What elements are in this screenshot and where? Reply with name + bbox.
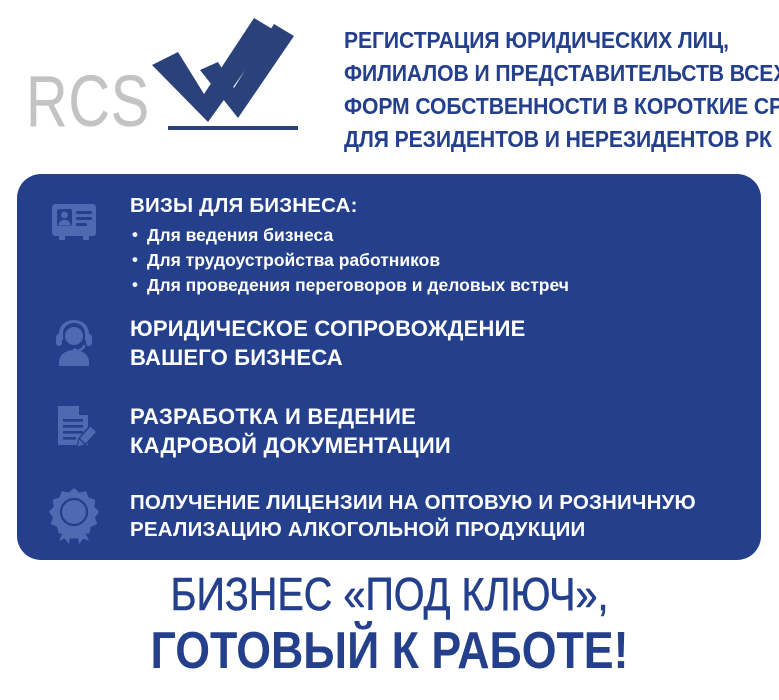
list-item: Для ведения бизнеса — [130, 223, 751, 248]
section-title-hr-line1: РАЗРАБОТКА И ВЕДЕНИЕ — [130, 402, 751, 431]
visa-bullet-list: Для ведения бизнеса Для трудоустройства … — [130, 223, 751, 298]
logo-underline — [168, 126, 298, 130]
tagline-line-2: ГОТОВЫЙ К РАБОТЕ! — [55, 621, 725, 681]
services-panel: ВИЗЫ ДЛЯ БИЗНЕСА: Для ведения бизнеса Дл… — [17, 174, 761, 560]
list-item: Для трудоустройства работников — [130, 248, 751, 273]
list-item: Для проведения переговоров и деловых вст… — [130, 273, 751, 298]
section-title-license-line2: РЕАЛИЗАЦИЮ АЛКОГОЛЬНОЙ ПРОДУКЦИИ — [130, 516, 751, 543]
headline: РЕГИСТРАЦИЯ ЮРИДИЧЕСКИХ ЛИЦ, ФИЛИАЛОВ И … — [344, 24, 774, 156]
headline-line-1: РЕГИСТРАЦИЯ ЮРИДИЧЕСКИХ ЛИЦ, — [344, 24, 731, 57]
headset-support-icon — [48, 314, 100, 366]
section-title-legal-line1: ЮРИДИЧЕСКОЕ СОПРОВОЖДЕНИЕ — [130, 314, 751, 343]
brand-wordmark: RCS — [26, 66, 150, 138]
brand-logo: RCS — [18, 10, 330, 150]
award-rosette-icon — [45, 486, 103, 544]
header-banner: RCS РЕГИСТРАЦИЯ ЮРИДИЧЕСКИХ ЛИЦ, ФИЛИАЛО… — [0, 0, 779, 174]
section-title-visas: ВИЗЫ ДЛЯ БИЗНЕСА: — [130, 192, 751, 219]
section-title-legal-line2: ВАШЕГО БИЗНЕСА — [130, 343, 751, 372]
section-title-license-line1: ПОЛУЧЕНИЕ ЛИЦЕНЗИИ НА ОПТОВУЮ И РОЗНИЧНУ… — [130, 489, 751, 516]
headline-line-2: ФИЛИАЛОВ И ПРЕДСТАВИТЕЛЬСТВ ВСЕХ — [344, 57, 731, 90]
headline-line-3: ФОРМ СОБСТВЕННОСТИ В КОРОТКИЕ СРОКИ — [344, 90, 731, 123]
id-card-icon — [48, 196, 100, 248]
double-checkmark-icon — [146, 18, 296, 122]
section-title-hr-line2: КАДРОВОЙ ДОКУМЕНТАЦИИ — [130, 431, 751, 460]
headline-line-4: ДЛЯ РЕЗИДЕНТОВ И НЕРЕЗИДЕНТОВ РК — [344, 123, 731, 156]
document-pen-icon — [48, 402, 100, 454]
tagline-line-1: БИЗНЕС «ПОД КЛЮЧ», — [55, 568, 725, 621]
tagline: БИЗНЕС «ПОД КЛЮЧ», ГОТОВЫЙ К РАБОТЕ! — [0, 568, 779, 681]
